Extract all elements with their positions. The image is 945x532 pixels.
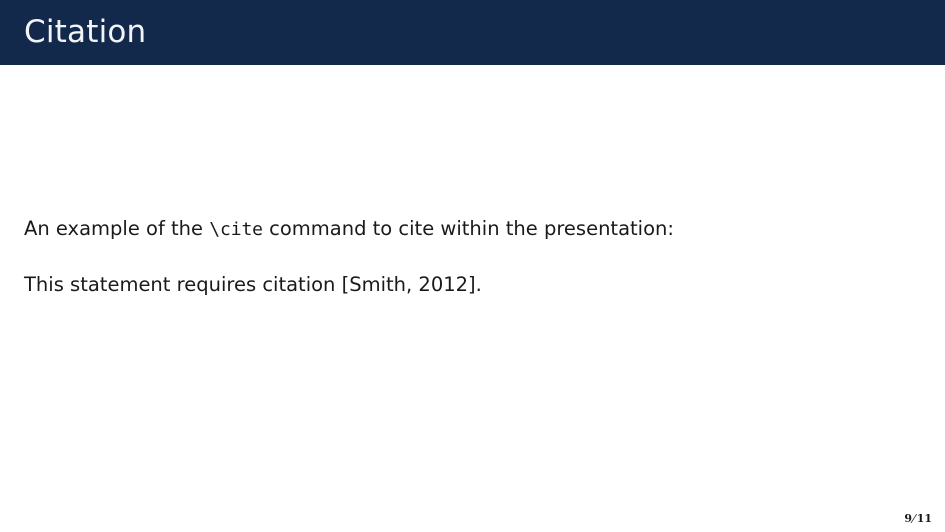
cite-command-code: \cite — [209, 219, 263, 240]
slide-body: An example of the \cite command to cite … — [0, 65, 945, 495]
slide-title: Citation — [24, 17, 146, 48]
paragraph-intro-text-after: command to cite within the presentation: — [263, 217, 674, 240]
page-number: 9/11 — [904, 512, 932, 525]
body-paragraph-intro: An example of the \cite command to cite … — [24, 217, 674, 242]
body-paragraph-citation: This statement requires citation [Smith,… — [24, 273, 482, 297]
slide-title-bar: Citation — [0, 0, 945, 65]
paragraph-intro-text-before: An example of the — [24, 217, 209, 240]
slide-footer: 9/11 — [0, 496, 945, 532]
presentation-slide: Citation An example of the \cite command… — [0, 0, 945, 532]
page-number-total: 11 — [917, 512, 932, 525]
